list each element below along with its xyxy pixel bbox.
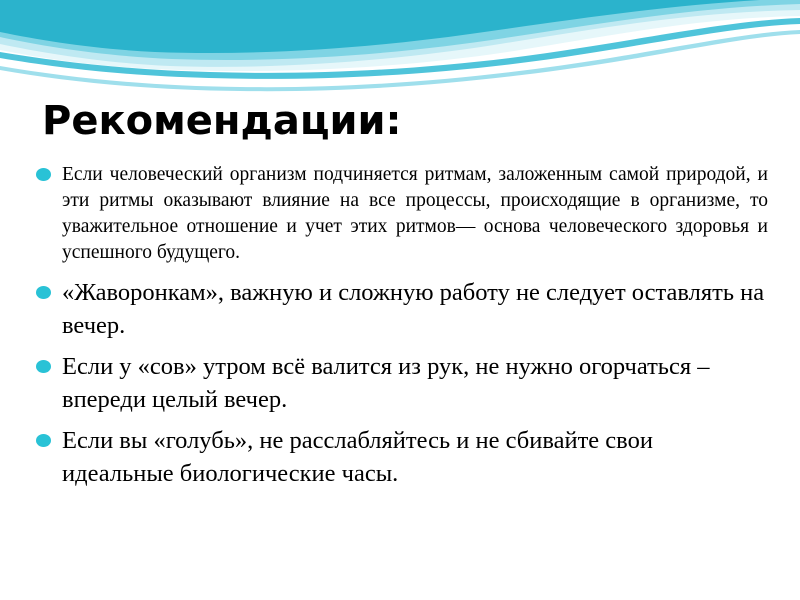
bullet-dot-icon (36, 276, 62, 299)
list-item: «Жаворонкам», важную и сложную работу не… (36, 276, 768, 342)
list-item: Если у «сов» утром всё валится из рук, н… (36, 350, 768, 416)
list-item-text: Если у «сов» утром всё валится из рук, н… (62, 350, 768, 416)
list-item-text: «Жаворонкам», важную и сложную работу не… (62, 276, 768, 342)
list-item: Если вы «голубь», не расслабляйтесь и не… (36, 424, 768, 490)
list-item-text: Если человеческий организм подчиняется р… (62, 162, 768, 266)
bullet-dot-icon (36, 162, 62, 181)
list-item-text: Если вы «голубь», не расслабляйтесь и не… (62, 424, 768, 490)
bullet-dot-icon (36, 350, 62, 373)
bullet-list: Если человеческий организм подчиняется р… (36, 162, 768, 492)
bullet-dot-icon (36, 424, 62, 447)
slide: Рекомендации: Если человеческий организм… (0, 0, 800, 600)
page-title: Рекомендации: (42, 98, 402, 144)
list-item: Если человеческий организм подчиняется р… (36, 162, 768, 266)
